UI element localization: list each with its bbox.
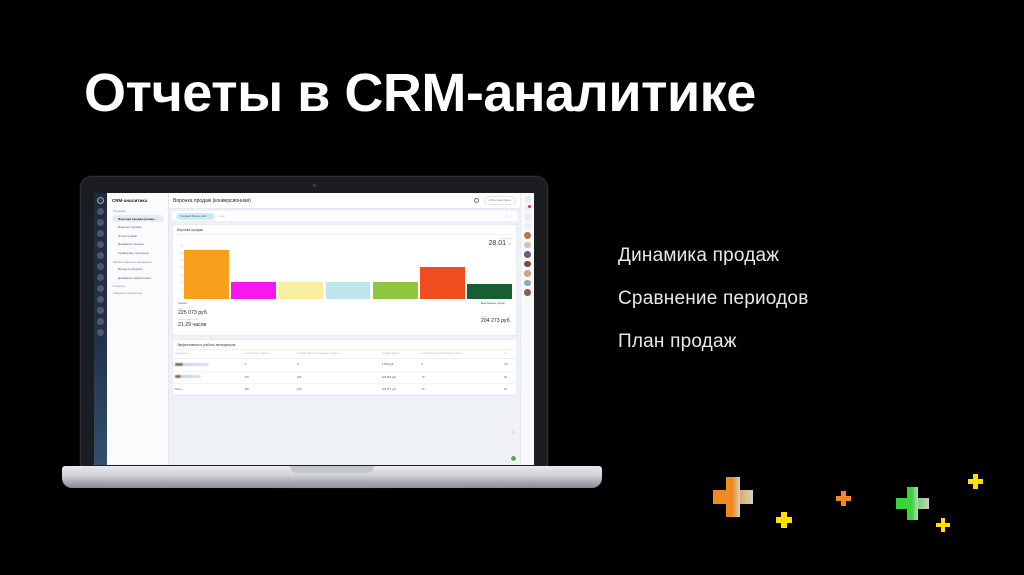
gear-icon[interactable] [525,196,531,202]
sidebar-item-efficiency-dynamics[interactable]: Динамика эффективно... [112,274,164,281]
avatar[interactable] [524,261,531,268]
y-tick: 150 [180,276,183,278]
bar-1[interactable] [231,282,276,299]
sidebar-item-funnel[interactable]: Воронка продаж [112,224,164,231]
cell-deals: 4 [242,358,295,371]
cell-deals: 276 [242,371,295,384]
close-icon[interactable]: × [511,214,513,218]
filter-chip-label: Текущий Месяц мой [180,214,206,218]
laptop-base-notch [290,466,374,473]
plus-shape-1 [776,512,792,528]
search-input[interactable]: поиск [218,214,503,218]
cell-sum: 222 533 руб. [380,371,420,384]
app-sidebar[interactable]: CRM-аналитика Продажи Воронка продаж (ко… [107,193,169,465]
avatar[interactable] [524,270,531,277]
funnel-chart: конверсия 28.01 % 350 [173,235,516,299]
list-item: Динамика продаж [618,245,809,267]
group-icon[interactable] [97,241,104,248]
bar-3[interactable] [326,282,371,299]
app-right-rail[interactable] [520,193,534,465]
conversion-number: 28.01 [489,240,507,247]
gear-icon[interactable] [474,198,479,203]
search-icon[interactable]: ⚲ [506,214,508,218]
funnel-bars: 350 300 250 200 150 100 50 0 [177,247,512,299]
sidebar-item-period-comparison[interactable]: Сравнение периодов [112,249,164,256]
bell-icon[interactable] [525,205,531,211]
avatar[interactable] [524,242,531,249]
list-item: План продаж [618,331,809,353]
cell-extra: 20 [502,371,516,384]
managers-card-title: Эффективность работы менеджеров [173,340,516,350]
app-content: Воронка продаж (конверсионная) обратная … [169,193,520,465]
laptop-shadow [68,482,596,490]
avatar[interactable] [524,289,531,296]
cell-extra: 2.5 [502,358,516,371]
chevron-right-icon[interactable]: › [506,425,520,439]
cell-total-label: Всего: [173,384,242,395]
funnel-card-title: Воронка продаж [173,225,516,235]
cell-lost: 4 [295,358,380,371]
col-won[interactable]: Количество выигранных сделок [420,350,502,359]
avatar[interactable] [524,251,531,258]
y-tick: 200 [180,268,183,270]
y-tick: 0 [182,297,183,299]
chat-icon[interactable] [97,219,104,226]
stat-time-value: 21.29 часов [178,322,208,328]
col-sum[interactable]: Сумма сделок [380,350,420,359]
sidebar-item-sales-plan[interactable]: План продаж [112,232,164,239]
col-extra[interactable]: Ср [502,350,516,359]
bar-2[interactable] [278,282,323,299]
managers-table: Менеджер Количество сделок Количество пр… [173,350,516,395]
feedback-button[interactable]: обратная связь [484,196,516,204]
slide-root: Отчеты в CRM-аналитике Динамика продаж С… [0,0,1024,575]
laptop-mockup: CRM-аналитика Продажи Воронка продаж (ко… [62,176,602,501]
stat-sum-value: 204 273 руб. [481,318,511,324]
cell-sum: 2 540 руб. [380,358,420,371]
managers-card: Эффективность работы менеджеров Менеджер… [172,339,517,396]
apps-icon[interactable] [97,318,104,325]
sidebar-item-funnel-conversion[interactable]: Воронка продаж (конве... [112,215,164,222]
plus-shape-5 [968,474,983,489]
stat-caption: Сделки [178,302,208,305]
col-deals[interactable]: Количество сделок [242,350,295,359]
sites-icon[interactable] [97,285,104,292]
laptop-lid: CRM-аналитика Продажи Воронка продаж (ко… [80,176,548,476]
sidebar-group-efficiency: Эффективность менеджер... [113,260,164,264]
drive-icon[interactable] [97,263,104,270]
close-icon[interactable] [97,197,104,204]
notification-badge [528,205,531,208]
report-scroll-area[interactable]: Воронка продаж конверсия 28.01 % [169,222,520,465]
sidebar-item-sales-dynamics[interactable]: Динамика продаж [112,241,164,248]
cell-total-deals: 280 [242,384,295,395]
conversion-block: конверсия 28.01 % [489,238,512,247]
automation-icon[interactable] [97,307,104,314]
plus-shape-0 [713,477,753,517]
report-title: Воронка продаж (конверсионная) [173,198,469,204]
sidebar-item-contribution[interactable]: Вклад в продажи [112,266,164,273]
cell-won: 0 [420,358,502,371]
close-icon[interactable]: × [209,214,211,218]
redacted-name [175,363,209,366]
avatar[interactable] [524,232,531,239]
cell-manager [173,371,242,384]
plus-shape-3 [896,487,929,520]
plus-shape-4 [936,518,950,532]
app-topbar: Воронка продаж (конверсионная) обратная … [169,193,520,209]
target-icon[interactable] [525,214,531,220]
y-tick: 100 [180,283,183,285]
col-manager[interactable]: Менеджер [173,350,242,359]
sidebar-group-sales: Продажи [113,209,164,213]
bar-5[interactable] [420,267,465,300]
tasks-icon[interactable] [97,230,104,237]
table-row[interactable]: 4 4 2 540 руб. 0 2.5 [173,358,516,371]
col-lost[interactable]: Количество проигранных сделок [295,350,380,359]
y-tick: 250 [180,261,183,263]
stat-sum-value: 225 073 руб. [178,310,208,316]
bar-4[interactable] [373,282,418,299]
help-fab-button[interactable] [510,455,517,462]
table-row[interactable]: 276 190 222 533 руб. 76 20 [173,371,516,384]
market-icon[interactable] [97,296,104,303]
more-icon[interactable] [97,329,104,336]
cell-lost: 190 [295,371,380,384]
crm-icon[interactable] [97,274,104,281]
cell-total-lost: 200 [295,384,380,395]
bar-0[interactable] [184,250,229,299]
table-header-row: Менеджер Количество сделок Количество пр… [173,350,516,359]
feed-icon[interactable] [97,208,104,215]
sidebar-group-endtoend[interactable]: Сквозная аналитика [113,291,164,295]
filter-bar: Текущий Месяц мой × поиск ⚲ × [172,211,517,222]
funnel-stat-start: Сделки сумма 225 073 руб. среднее время … [178,302,208,331]
conversion-value: 28.01 % [489,240,512,247]
search-icon[interactable] [525,223,531,229]
crm-app: CRM-аналитика Продажи Воронка продаж (ко… [94,193,534,465]
y-tick: 300 [180,254,183,256]
sidebar-group-clients[interactable]: Клиенты [113,284,164,288]
y-tick: 50 [181,290,183,292]
stat-caption: Выигранные сделки [481,302,505,305]
feature-list: Динамика продаж Сравнение периодов План … [618,245,809,374]
cell-won: 76 [420,371,502,384]
filter-chip-current-month[interactable]: Текущий Месяц мой × [176,213,215,220]
table-row-total: Всего: 280 200 225 073 руб. 76 25 [173,384,516,395]
conversion-unit: % [508,242,511,246]
plus-shape-2 [836,491,851,506]
cell-total-extra: 25 [502,384,516,395]
app-left-rail[interactable] [94,193,107,465]
cell-total-won: 76 [420,384,502,395]
cell-total-sum: 225 073 руб. [380,384,420,395]
redacted-name [175,375,201,378]
avatar[interactable] [524,280,531,287]
app-brand: CRM-аналитика [112,198,164,203]
laptop-screen: CRM-аналитика Продажи Воронка продаж (ко… [94,193,534,465]
page-title: Отчеты в CRM-аналитике [84,62,756,124]
list-item: Сравнение периодов [618,288,809,310]
bar-6[interactable] [467,284,512,299]
cell-manager [173,358,242,371]
funnel-card: Воронка продаж конверсия 28.01 % [172,224,517,336]
y-axis: 350 300 250 200 150 100 50 0 [177,247,184,299]
funnel-stats: Сделки сумма 225 073 руб. среднее время … [173,299,516,335]
webcam-icon [313,184,316,187]
calendar-icon[interactable] [97,252,104,259]
funnel-stat-won: Выигранные сделки сумма 204 273 руб. [481,302,511,331]
y-tick: 350 [180,247,183,249]
